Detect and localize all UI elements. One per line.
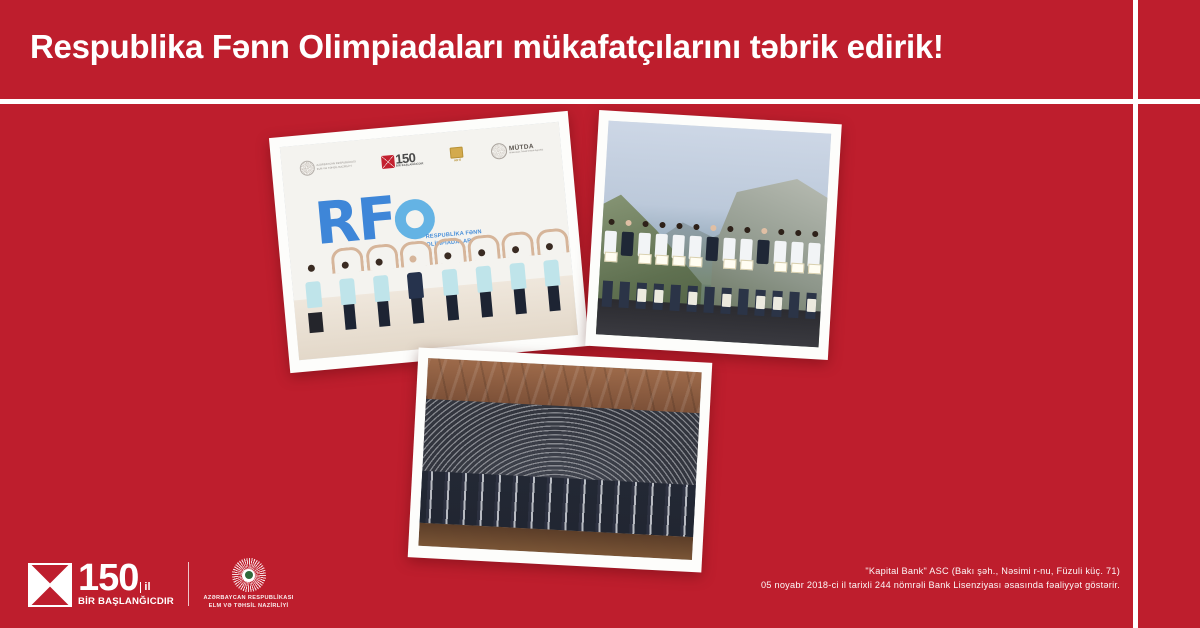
- person: [685, 223, 705, 312]
- footer-logo-group: 150 il BİR BAŞLANĞICDIR AZƏRBAYCAN RESPU…: [28, 558, 294, 610]
- person: [535, 219, 567, 313]
- person: [399, 231, 431, 325]
- person: [433, 228, 465, 322]
- mutda-logo: MÜTDA Mütəxəssis Təhsili Dəstək Agentliy…: [490, 139, 543, 160]
- ministry-logo: AZƏRBAYCAN RESPUBLİKASI ELM VƏ TƏHSİL NA…: [203, 558, 293, 610]
- disclaimer-line-1: "Kapital Bank" ASC (Bakı şəh., Nəsimi r-…: [761, 564, 1120, 578]
- poster-logo-150: 150 BİR BAŞLANĞICDIR: [381, 151, 424, 169]
- photo-rfo-stage: AZƏRBAYCAN RESPUBLİKASI ELM VƏ TƏHSİL NA…: [269, 111, 589, 373]
- disclaimer-line-2: 05 noyabr 2018-ci il tarixli 244 nömrəli…: [761, 578, 1120, 592]
- hourglass-icon: [381, 154, 395, 168]
- arti-label: ARTİ: [454, 158, 461, 163]
- logo-150: 150 il BİR BAŞLANĞICDIR: [28, 562, 174, 607]
- ministry-name-line2: ELM VƏ TƏHSİL NAZİRLİYİ: [203, 603, 293, 610]
- person: [501, 222, 533, 316]
- photo-award-winners: [585, 110, 842, 360]
- person: [331, 237, 363, 331]
- page-title: Respublika Fənn Olimpiadaları mükafatçıl…: [30, 25, 1110, 69]
- person: [786, 229, 806, 318]
- person: [634, 220, 654, 309]
- logo-150-number: 150: [78, 562, 138, 594]
- promo-banner: Respublika Fənn Olimpiadaları mükafatçıl…: [0, 0, 1200, 628]
- photo-auditorium: [408, 347, 713, 572]
- photo-frame: [418, 358, 701, 560]
- logo-150-unit: il: [140, 582, 150, 593]
- person: [617, 219, 637, 308]
- person: [769, 228, 789, 317]
- ministry-emblem-icon: [232, 558, 266, 592]
- photo-collage: AZƏRBAYCAN RESPUBLİKASI ELM VƏ TƏHSİL NA…: [0, 100, 1200, 570]
- person: [719, 225, 739, 314]
- logo-divider: [188, 562, 190, 606]
- ministry-seal-icon: AZƏRBAYCAN RESPUBLİKASI ELM VƏ TƏHSİL NA…: [299, 156, 357, 176]
- person: [702, 224, 722, 313]
- person: [467, 225, 499, 319]
- arti-logo: ARTİ: [448, 146, 466, 163]
- person: [651, 221, 671, 310]
- bank-disclaimer: "Kapital Bank" ASC (Bakı şəh., Nəsimi r-…: [761, 564, 1120, 592]
- person: [365, 234, 397, 328]
- person: [668, 222, 688, 311]
- hourglass-icon: [28, 563, 72, 607]
- winners-row: [600, 204, 824, 319]
- photo-frame: AZƏRBAYCAN RESPUBLİKASI ELM VƏ TƏHSİL NA…: [280, 122, 578, 360]
- arti-emblem-icon: [450, 147, 464, 159]
- mutda-seal-icon: [490, 142, 507, 159]
- logo-150-slogan: BİR BAŞLANĞICDIR: [78, 597, 174, 607]
- photo-frame: [596, 121, 831, 348]
- stage-people-row: [294, 186, 567, 333]
- person: [753, 227, 773, 316]
- ministry-name-line1: AZƏRBAYCAN RESPUBLİKASI: [203, 595, 293, 602]
- person: [736, 226, 756, 315]
